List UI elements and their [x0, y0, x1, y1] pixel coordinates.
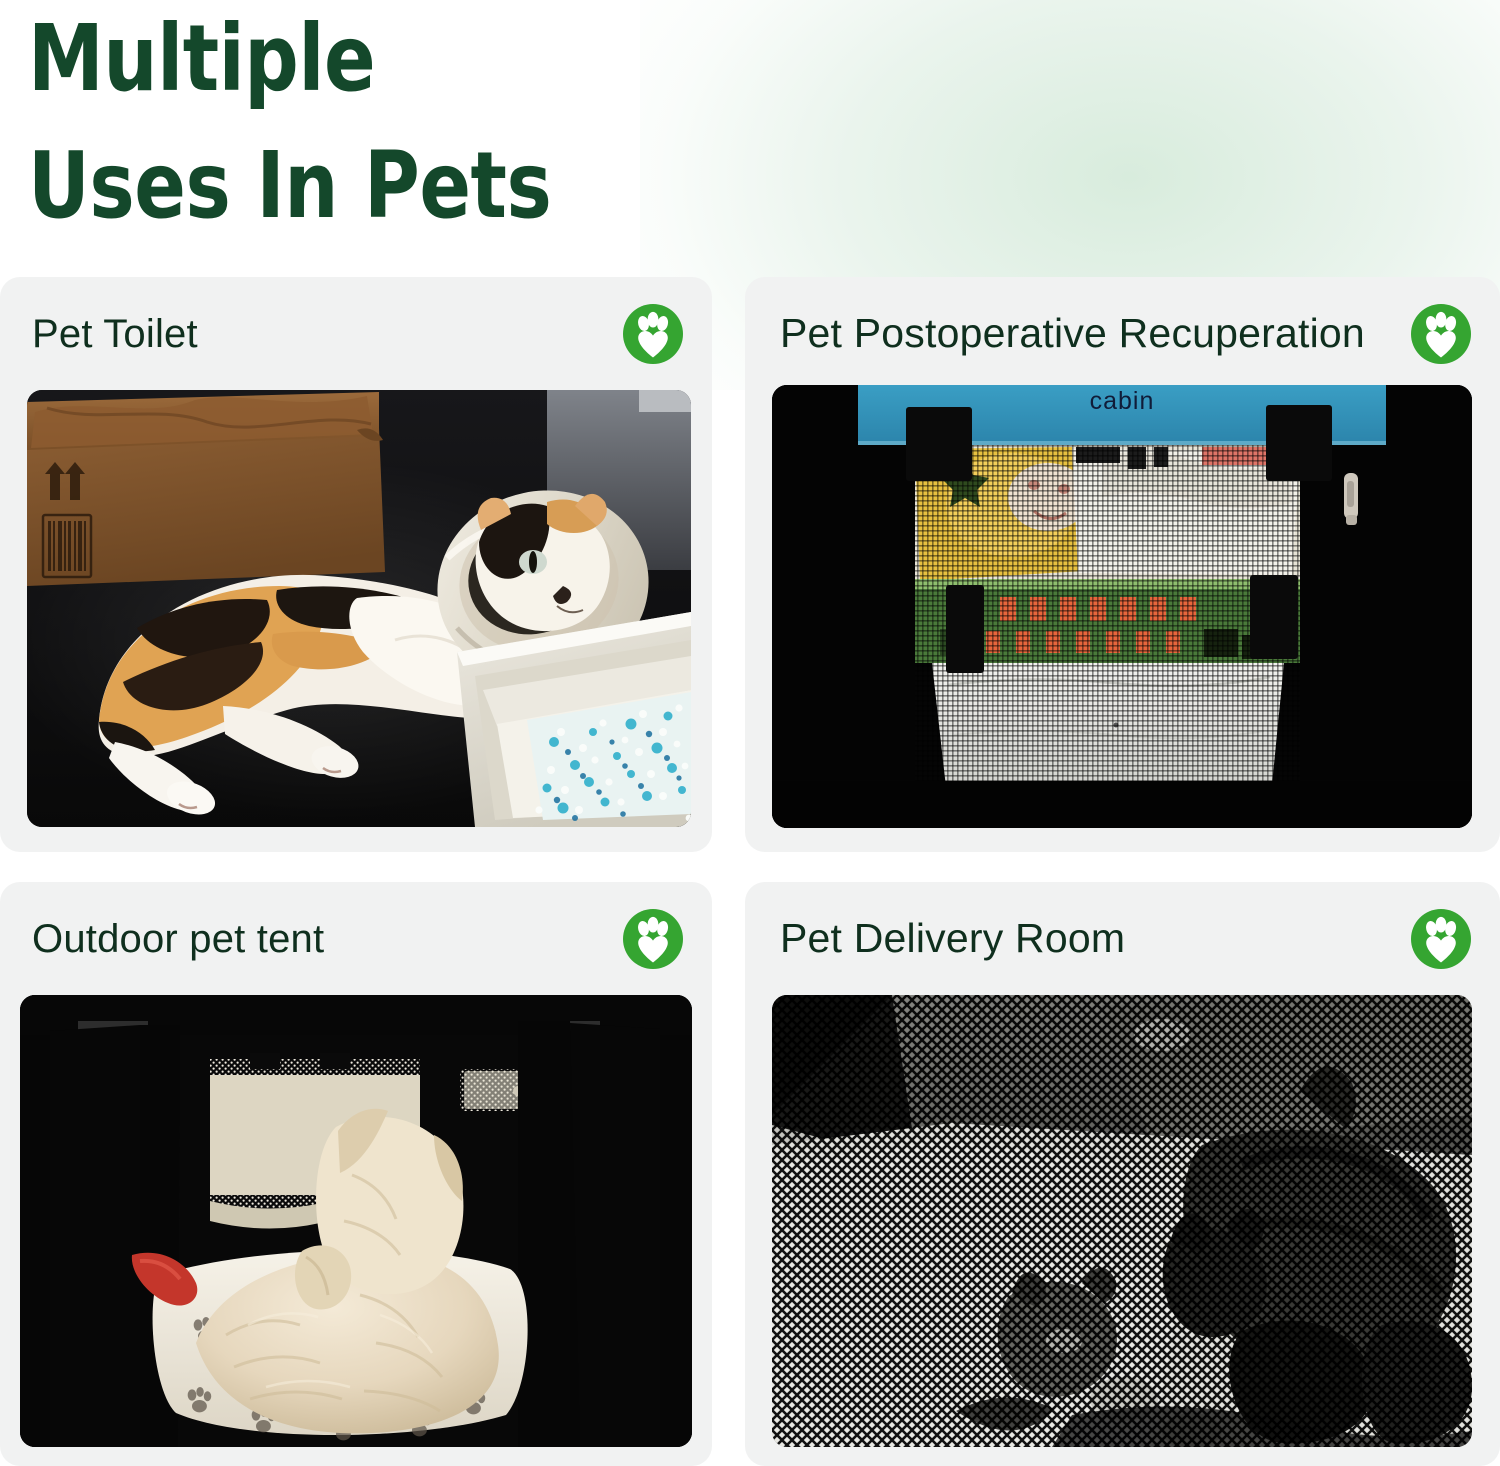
card-title: Pet Toilet — [0, 314, 198, 354]
card-title: Outdoor pet tent — [0, 919, 324, 959]
infographic-page: Multiple Uses In Pets Pet Toilet — [0, 0, 1500, 1466]
paw-badge-icon — [622, 303, 684, 365]
card-title: Pet Postoperative Recuperation — [745, 313, 1365, 354]
use-case-card-postoperative-recuperation[interactable]: Pet Postoperative Recuperation — [745, 277, 1500, 852]
use-case-card-pet-delivery-room[interactable]: Pet Delivery Room — [745, 882, 1500, 1466]
paw-badge-icon — [1410, 303, 1472, 365]
use-case-card-outdoor-pet-tent[interactable]: Outdoor pet tent — [0, 882, 712, 1466]
card-header: Pet Delivery Room — [745, 882, 1500, 995]
paw-badge-icon — [622, 908, 684, 970]
paw-badge-icon — [1410, 908, 1472, 970]
use-case-photo-outdoor-pet-tent — [20, 995, 692, 1447]
use-case-photo-postoperative-recuperation: cabin — [772, 385, 1472, 828]
svg-text:cabin: cabin — [1090, 387, 1155, 415]
card-header: Outdoor pet tent — [0, 882, 712, 995]
card-header: Pet Postoperative Recuperation — [745, 277, 1500, 390]
card-header: Pet Toilet — [0, 277, 712, 390]
use-case-photo-pet-toilet — [27, 390, 691, 827]
page-title: Multiple Uses In Pets — [28, 0, 801, 250]
card-title: Pet Delivery Room — [745, 918, 1125, 959]
use-case-card-pet-toilet[interactable]: Pet Toilet — [0, 277, 712, 852]
use-case-photo-pet-delivery-room — [772, 995, 1472, 1447]
